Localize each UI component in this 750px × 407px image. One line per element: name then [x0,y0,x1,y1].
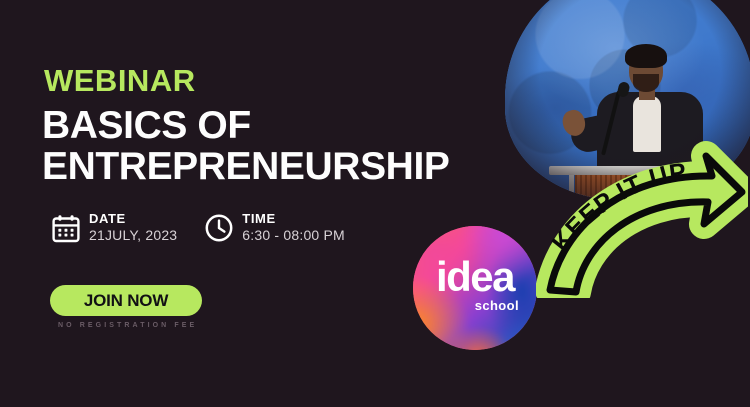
date-label: DATE [89,212,177,227]
idea-school-logo: idea school [413,226,537,350]
page-title: BASICS OF ENTREPRENEURSHIP [42,105,450,188]
logo-wordmark: idea [413,256,537,298]
logo-subtext: school [475,298,519,313]
time-value: 6:30 - 08:00 PM [242,227,345,245]
event-time: TIME 6:30 - 08:00 PM [205,212,345,244]
eyebrow-label: WEBINAR [44,63,196,99]
event-info-row: DATE 21JULY, 2023 TIME 6:30 - 08:00 PM [52,212,345,244]
registration-note: NO REGISTRATION FEE [58,322,197,329]
clock-icon [205,214,233,242]
event-date: DATE 21JULY, 2023 [52,212,177,244]
keep-it-up-sticker: KEEP IT UP [536,140,748,298]
calendar-icon [52,214,80,243]
webinar-poster: WEBINAR BASICS OF ENTREPRENEURSHIP [0,0,750,407]
time-label: TIME [242,212,345,227]
date-value: 21JULY, 2023 [89,227,177,245]
join-now-button[interactable]: JOIN NOW [50,285,202,316]
